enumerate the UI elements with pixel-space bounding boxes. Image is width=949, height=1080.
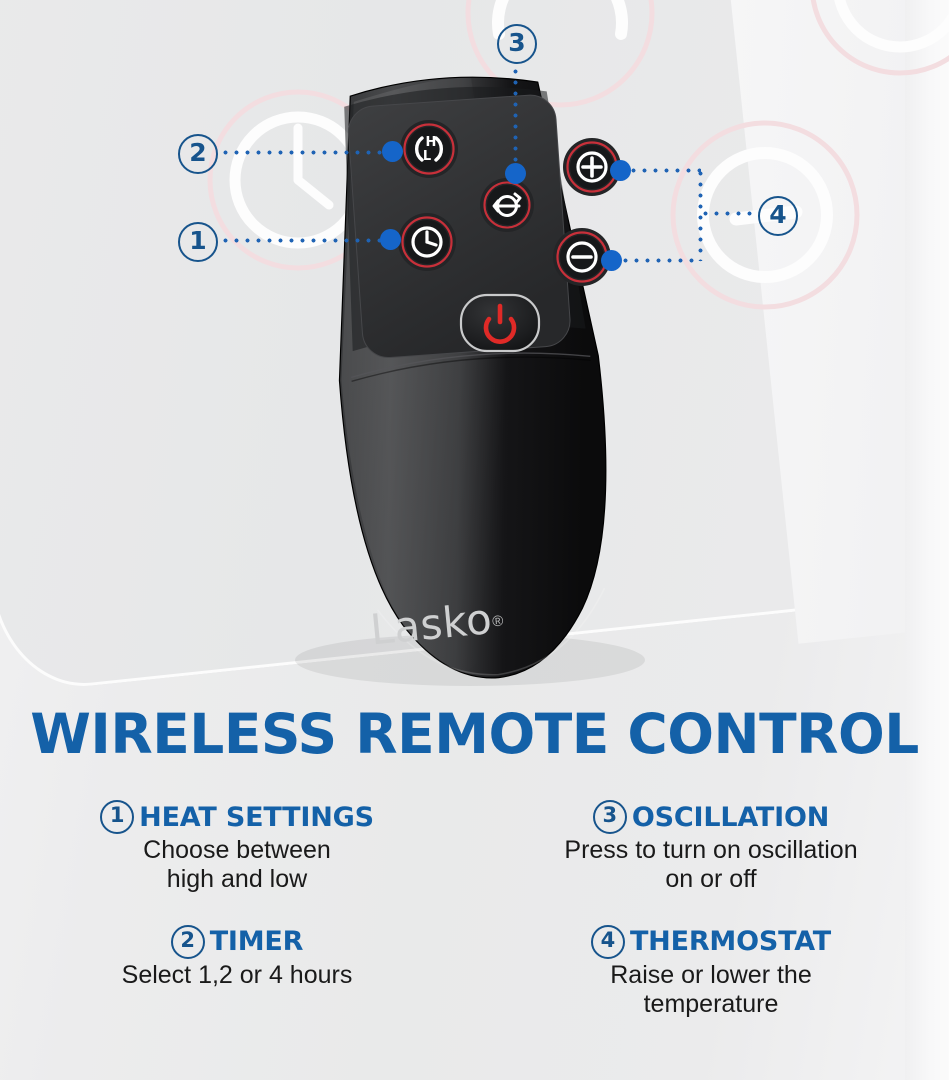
legend-title-thermostat: THERMOSTAT [630, 926, 831, 957]
callout-leader-1 [220, 238, 386, 243]
legend-description-timer: Select 1,2 or 4 hours [0, 961, 474, 990]
callout-number-3[interactable]: 3 [497, 24, 537, 64]
legend-badge-4: 4 [591, 925, 625, 959]
legend-badge-3: 3 [593, 800, 627, 834]
infographic-page: H L [0, 0, 949, 1080]
callout-anchor-2 [382, 141, 403, 162]
oscillation-button[interactable] [478, 176, 536, 234]
callout-number-2[interactable]: 2 [178, 134, 218, 174]
callout-number-4[interactable]: 4 [758, 196, 798, 236]
callout-leader-2 [220, 150, 390, 155]
legend-item-thermostat: 4 THERMOSTAT Raise or lower the temperat… [474, 925, 948, 1020]
legend-title-heat-settings: HEAT SETTINGS [139, 802, 374, 833]
legend-badge-1: 1 [100, 800, 134, 834]
callout-anchor-4-down [601, 250, 622, 271]
callout-anchor-3 [505, 163, 526, 184]
callout-anchor-1 [380, 229, 401, 250]
page-title: WIRELESS REMOTE CONTROL [0, 702, 949, 766]
legend: 1 HEAT SETTINGS Choose between high and … [0, 800, 949, 1019]
legend-description-heat-settings: Choose between high and low [0, 836, 474, 895]
legend-title-timer: TIMER [210, 926, 304, 957]
legend-heading-thermostat: 4 THERMOSTAT [474, 925, 948, 959]
svg-text:L: L [423, 149, 431, 164]
callout-leader-4-stem [700, 211, 755, 216]
callout-number-1[interactable]: 1 [178, 222, 218, 262]
power-button[interactable] [458, 292, 542, 354]
legend-column-left: 1 HEAT SETTINGS Choose between high and … [0, 800, 474, 1019]
legend-title-oscillation: OSCILLATION [632, 802, 829, 833]
brand-trademark: ® [491, 613, 504, 631]
legend-badge-2: 2 [171, 925, 205, 959]
legend-heading-oscillation: 3 OSCILLATION [474, 800, 948, 834]
callout-leader-4-lower [620, 258, 701, 263]
heat-settings-button[interactable]: H L [398, 118, 460, 180]
legend-heading-heat-settings: 1 HEAT SETTINGS [0, 800, 474, 834]
legend-item-timer: 2 TIMER Select 1,2 or 4 hours [0, 925, 474, 990]
timer-button[interactable] [396, 211, 458, 273]
legend-item-oscillation: 3 OSCILLATION Press to turn on oscillati… [474, 800, 948, 895]
legend-heading-timer: 2 TIMER [0, 925, 474, 959]
callout-leader-3 [513, 66, 518, 176]
legend-item-heat-settings: 1 HEAT SETTINGS Choose between high and … [0, 800, 474, 895]
svg-text:H: H [426, 135, 437, 150]
callout-leader-4-upper [628, 168, 701, 173]
legend-description-thermostat: Raise or lower the temperature [474, 961, 948, 1020]
legend-description-oscillation: Press to turn on oscillation on or off [474, 836, 948, 895]
legend-column-right: 3 OSCILLATION Press to turn on oscillati… [474, 800, 948, 1019]
